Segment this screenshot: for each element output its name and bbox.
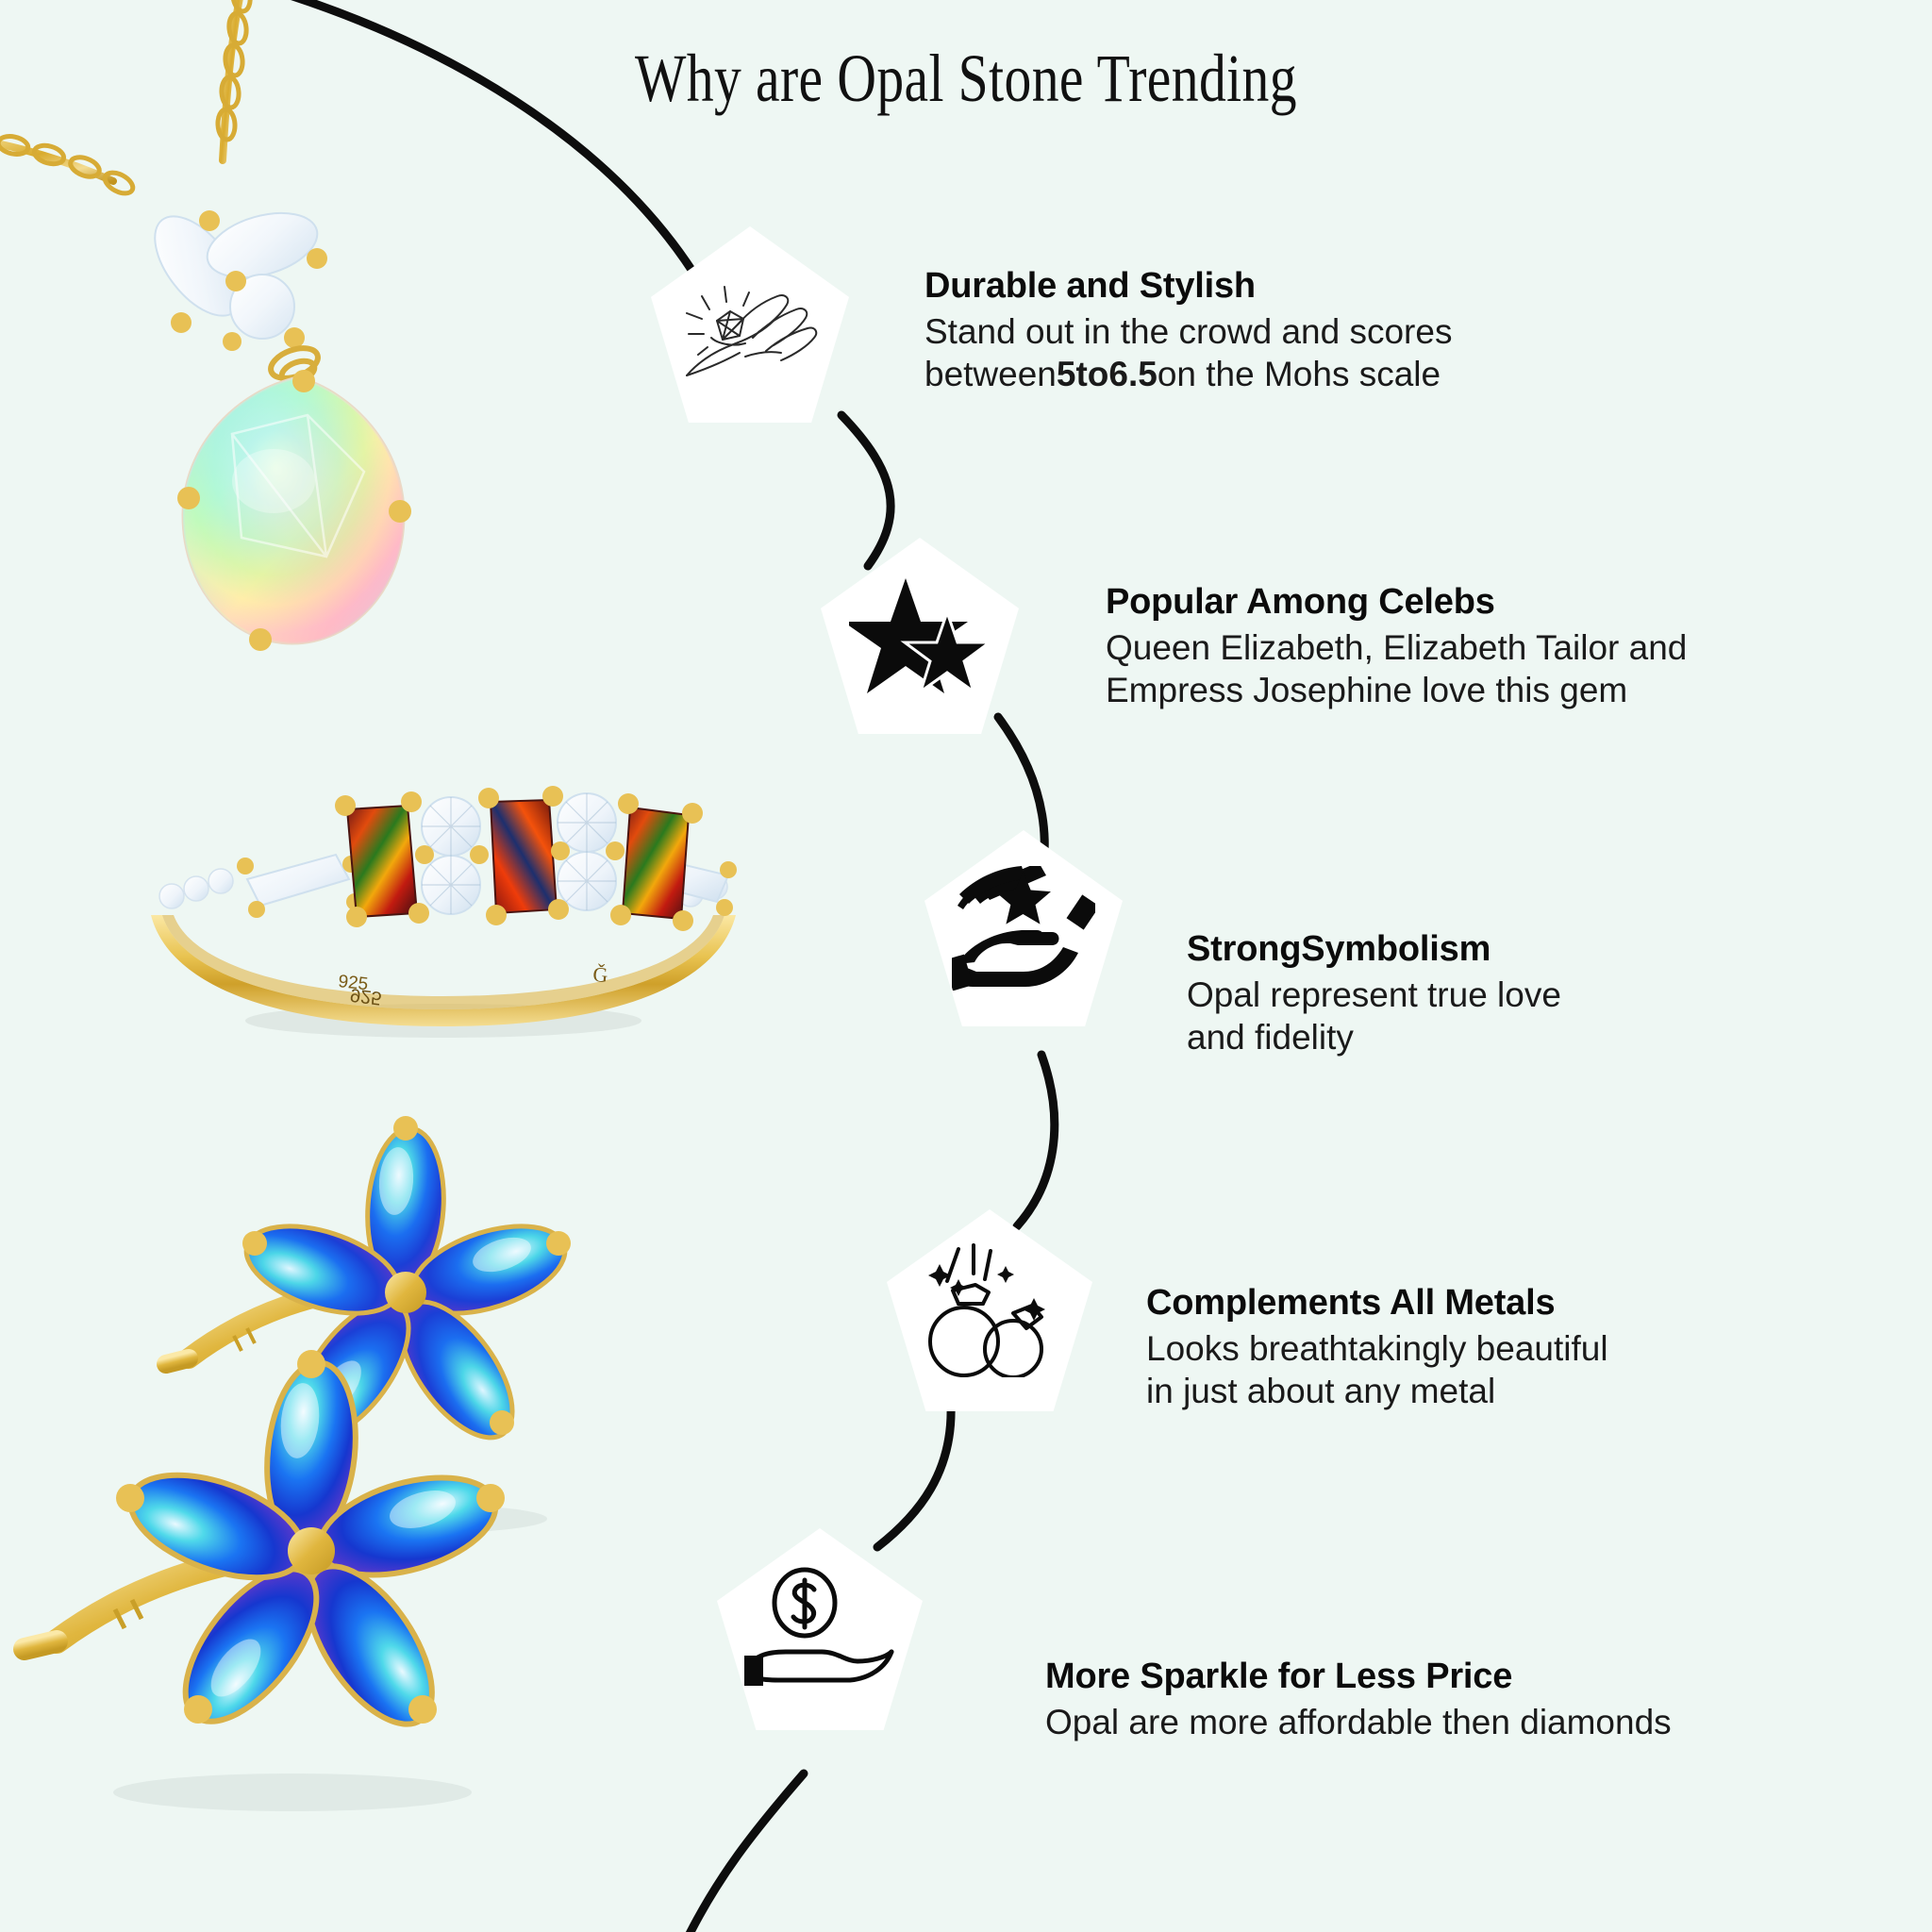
item-block-durable-and-stylish: Durable and Stylish Stand out in the cro… [924, 266, 1604, 395]
item-body-line2: in just about any metal [1146, 1370, 1863, 1412]
fire-opal-band-ring-photo: 925 925 Ǧ [113, 774, 774, 1057]
two-stars-icon [849, 575, 991, 697]
item-body-line2: Empress Josephine love this gem [1106, 669, 1860, 711]
item-body-line1: Queen Elizabeth, Elizabeth Tailor and [1106, 626, 1860, 669]
item-body-line1: Opal are more affordable then diamonds [1045, 1701, 1875, 1743]
item-body-line2: between5to6.5on the Mohs scale [924, 353, 1604, 395]
item-heading: Popular Among Celebs [1106, 582, 1860, 623]
item-body-line1: Looks breathtakingly beautiful [1146, 1327, 1863, 1370]
hand-with-ring-icon [679, 264, 821, 385]
two-rings-sparkle-icon [915, 1243, 1064, 1377]
item-body-line1: Opal represent true love [1187, 974, 1847, 1016]
item-heading: Durable and Stylish [924, 266, 1604, 307]
item-heading: StrongSymbolism [1187, 929, 1847, 970]
badge-strong-symbolism [924, 830, 1123, 1026]
item-block-strong-symbolism: StrongSymbolism Opal represent true love… [1187, 929, 1847, 1058]
badge-popular-among-celebs [821, 538, 1019, 734]
item-heading: More Sparkle for Less Price [1045, 1657, 1875, 1697]
item-body-line1: Stand out in the crowd and scores [924, 310, 1604, 353]
blue-opal-flower-earrings-photo [0, 1321, 604, 1849]
badge-complements-all-metals [887, 1209, 1092, 1411]
badge-more-sparkle-for-less-price [717, 1528, 923, 1730]
mohs-range: 5to6.5 [1057, 355, 1158, 393]
item-block-more-sparkle-for-less-price: More Sparkle for Less Price Opal are mor… [1045, 1657, 1875, 1743]
infographic-canvas: Why are Opal Stone Trending [0, 0, 1932, 1932]
item-block-popular-among-celebs: Popular Among Celebs Queen Elizabeth, El… [1106, 582, 1860, 711]
opal-pear-pendant-necklace-photo [0, 0, 491, 689]
mohs-prefix: between [924, 355, 1057, 393]
badge-durable-and-stylish [651, 226, 849, 423]
item-heading: Complements All Metals [1146, 1283, 1863, 1324]
svg-text:Ǧ: Ǧ [592, 962, 609, 987]
item-block-complements-all-metals: Complements All Metals Looks breathtakin… [1146, 1283, 1863, 1412]
item-body-line2: and fidelity [1187, 1016, 1847, 1058]
svg-text:925: 925 [337, 972, 369, 994]
hands-holding-star-icon [952, 866, 1095, 991]
mohs-suffix: on the Mohs scale [1158, 355, 1441, 393]
hand-holding-dollar-coin-icon [744, 1565, 895, 1693]
